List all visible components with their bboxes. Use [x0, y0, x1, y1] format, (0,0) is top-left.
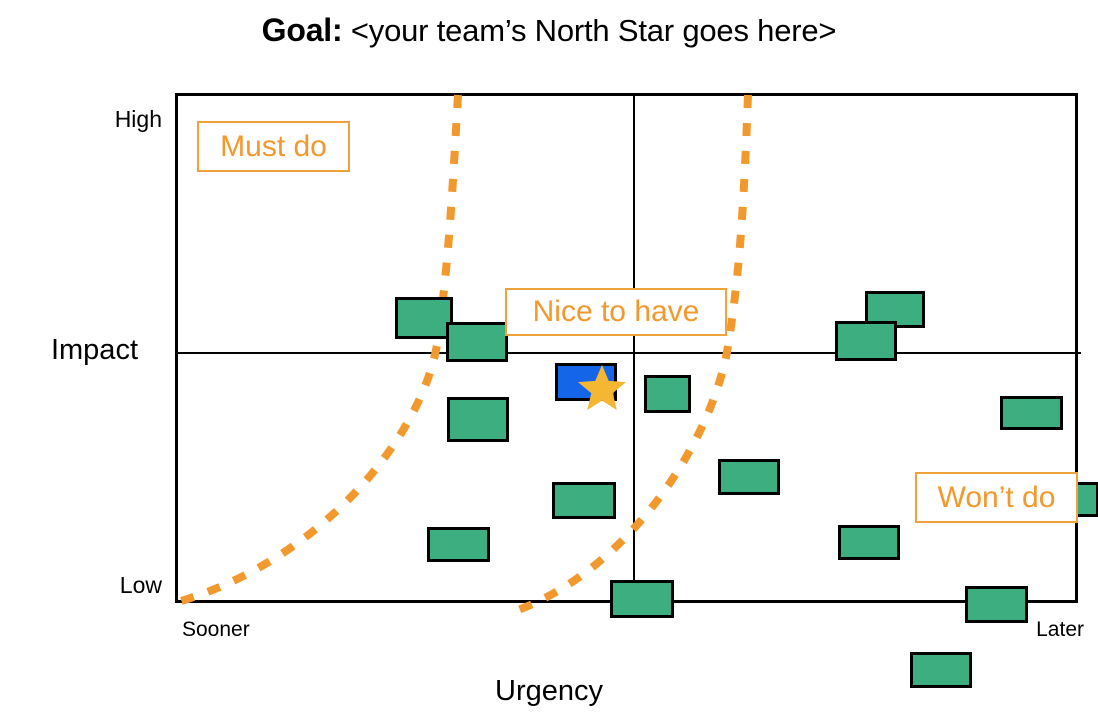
matrix-item[interactable]	[965, 586, 1028, 623]
quadrant-divider-vertical	[633, 96, 635, 606]
matrix-item[interactable]	[644, 375, 691, 413]
matrix-item[interactable]	[447, 397, 509, 442]
y-axis-title: Impact	[51, 334, 138, 367]
matrix-item[interactable]	[910, 652, 972, 688]
quadrant-label-text: Must do	[220, 132, 327, 162]
page-title: Goal: <your team’s North Star goes here>	[0, 12, 1098, 49]
prioritization-matrix: Goal: <your team’s North Star goes here>…	[0, 0, 1098, 724]
quadrant-label-text: Nice to have	[533, 297, 700, 327]
matrix-item[interactable]	[427, 527, 490, 562]
y-axis-low-label: Low	[120, 572, 162, 599]
x-axis-end-label: Later	[1036, 618, 1084, 642]
quadrant-label-text: Won’t do	[938, 483, 1056, 513]
quadrant-label-must-do[interactable]: Must do	[197, 121, 350, 172]
matrix-item[interactable]	[395, 297, 453, 339]
title-lead: Goal:	[262, 12, 343, 48]
matrix-item[interactable]	[718, 459, 780, 495]
matrix-item[interactable]	[446, 322, 508, 362]
title-rest: <your team’s North Star goes here>	[342, 13, 836, 48]
x-axis-start-label: Sooner	[182, 618, 250, 642]
quadrant-divider-horizontal	[178, 352, 1081, 354]
matrix-item[interactable]	[838, 525, 900, 560]
quadrant-label-wont-do[interactable]: Won’t do	[915, 472, 1078, 523]
y-axis-high-label: High	[115, 106, 162, 133]
matrix-item[interactable]	[552, 482, 616, 519]
quadrant-label-nice-to-have[interactable]: Nice to have	[505, 288, 727, 336]
matrix-item[interactable]	[610, 580, 674, 618]
matrix-item[interactable]	[835, 321, 897, 361]
star-icon	[578, 364, 626, 410]
matrix-item[interactable]	[1000, 396, 1063, 430]
